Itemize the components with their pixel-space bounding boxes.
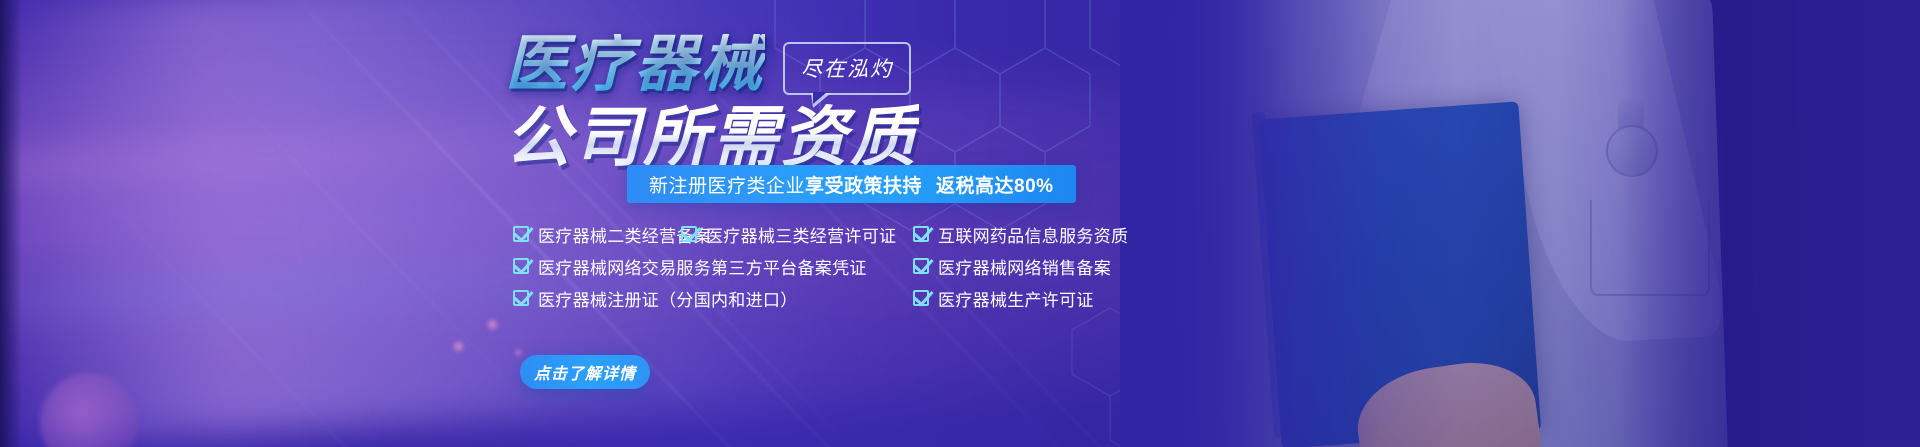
checklist-item-label: 医疗器械网络销售备案 [938,254,1111,279]
banner-content: 医疗器械 尽在泓灼 公司所需资质 新注册医疗类企业享受政策扶持返税高达80% 医… [505,0,1405,447]
checklist-row: 医疗器械注册证（分国内和进口） 医疗器械生产许可证 [513,282,1393,314]
check-box-icon [513,290,529,306]
check-box-icon [513,258,529,274]
left-edge-shade [0,0,22,447]
headline-row: 医疗器械 尽在泓灼 [505,34,911,96]
checklist-item-label: 互联网药品信息服务资质 [938,222,1128,247]
sub-bar-tail-text: 返税高达80% [936,171,1054,198]
qualification-checklist: 医疗器械二类经营备案 医疗器械三类经营许可证 互联网药品信息服务资质 医疗器械网… [513,218,1393,314]
checklist-item-label: 医疗器械注册证（分国内和进口） [538,286,798,311]
headline-line-1: 医疗器械 [505,34,765,96]
check-box-icon [913,226,929,242]
checklist-row: 医疗器械网络交易服务第三方平台备案凭证 医疗器械网络销售备案 [513,250,1393,282]
checklist-item: 医疗器械网络交易服务第三方平台备案凭证 [513,254,913,279]
brand-bubble: 尽在泓灼 [783,42,911,95]
check-box-icon [913,290,929,306]
checklist-row: 医疗器械二类经营备案 医疗器械三类经营许可证 互联网药品信息服务资质 [513,218,1393,250]
sub-bar-bold-text: 享受政策扶持 [805,171,922,198]
checklist-item: 医疗器械生产许可证 [913,286,1094,311]
checklist-item: 医疗器械三类经营许可证 [681,222,913,247]
check-box-icon [513,226,529,242]
checklist-item-label: 医疗器械网络交易服务第三方平台备案凭证 [538,254,867,279]
checklist-item: 医疗器械二类经营备案 [513,222,681,247]
checklist-item-label: 医疗器械生产许可证 [938,286,1094,311]
promo-banner: 医疗器械 尽在泓灼 公司所需资质 新注册医疗类企业享受政策扶持返税高达80% 医… [0,0,1920,447]
sub-bar-regular-text: 新注册医疗类企业 [649,171,805,198]
check-box-icon [681,226,697,242]
check-box-icon [913,258,929,274]
promo-sub-bar: 新注册医疗类企业享受政策扶持返税高达80% [627,165,1076,203]
learn-more-button[interactable]: 点击了解详情 [520,355,650,389]
checklist-item: 医疗器械注册证（分国内和进口） [513,286,913,311]
checklist-item: 医疗器械网络销售备案 [913,254,1111,279]
checklist-item: 互联网药品信息服务资质 [913,222,1128,247]
checklist-item-label: 医疗器械三类经营许可证 [706,222,896,247]
headline-line-2: 公司所需资质 [505,104,919,170]
